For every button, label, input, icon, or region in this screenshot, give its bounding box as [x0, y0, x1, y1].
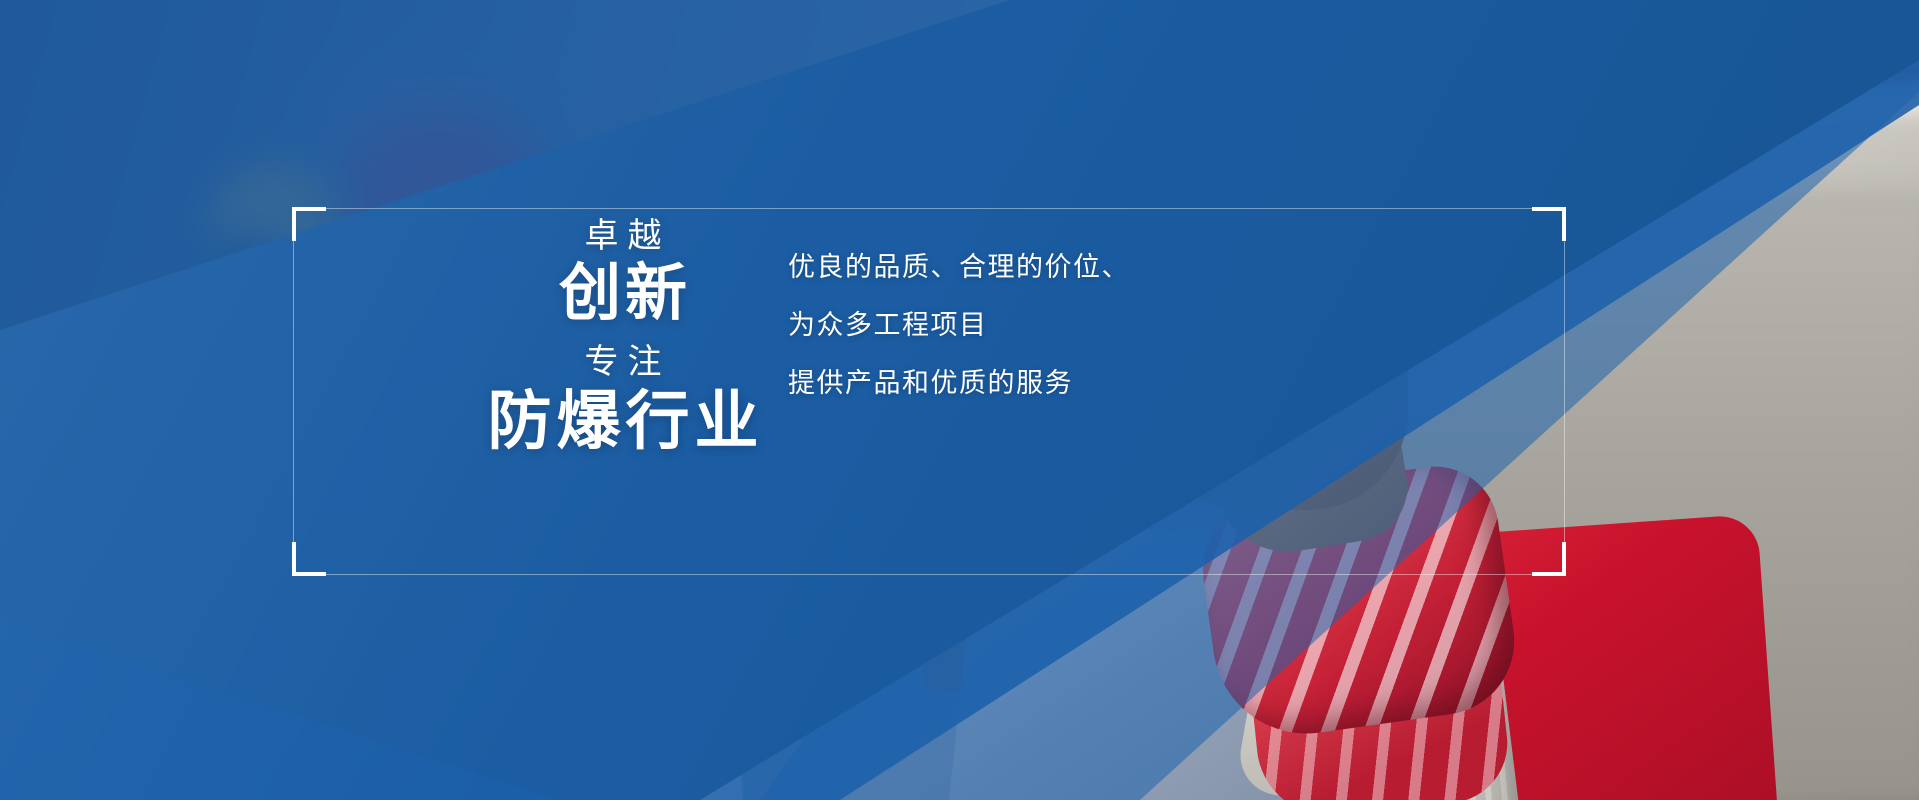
- headline-small-1: 卓越: [448, 216, 798, 256]
- headline-big-2: 防爆行业: [448, 384, 798, 458]
- body-line: 优良的品质、合理的价位、: [788, 254, 1308, 281]
- body-text-block: 优良的品质、合理的价位、 为众多工程项目 提供产品和优质的服务: [788, 254, 1308, 397]
- headline-block: 卓越 创新 专注 防爆行业: [448, 216, 798, 458]
- body-line: 为众多工程项目: [788, 312, 1308, 339]
- headline-big-1: 创新: [448, 258, 798, 330]
- hero-banner: 卓越 创新 专注 防爆行业 优良的品质、合理的价位、 为众多工程项目 提供产品和…: [0, 0, 1919, 800]
- banner-content: 卓越 创新 专注 防爆行业 优良的品质、合理的价位、 为众多工程项目 提供产品和…: [293, 208, 1565, 575]
- headline-small-2: 专注: [448, 342, 798, 382]
- body-line: 提供产品和优质的服务: [788, 370, 1308, 397]
